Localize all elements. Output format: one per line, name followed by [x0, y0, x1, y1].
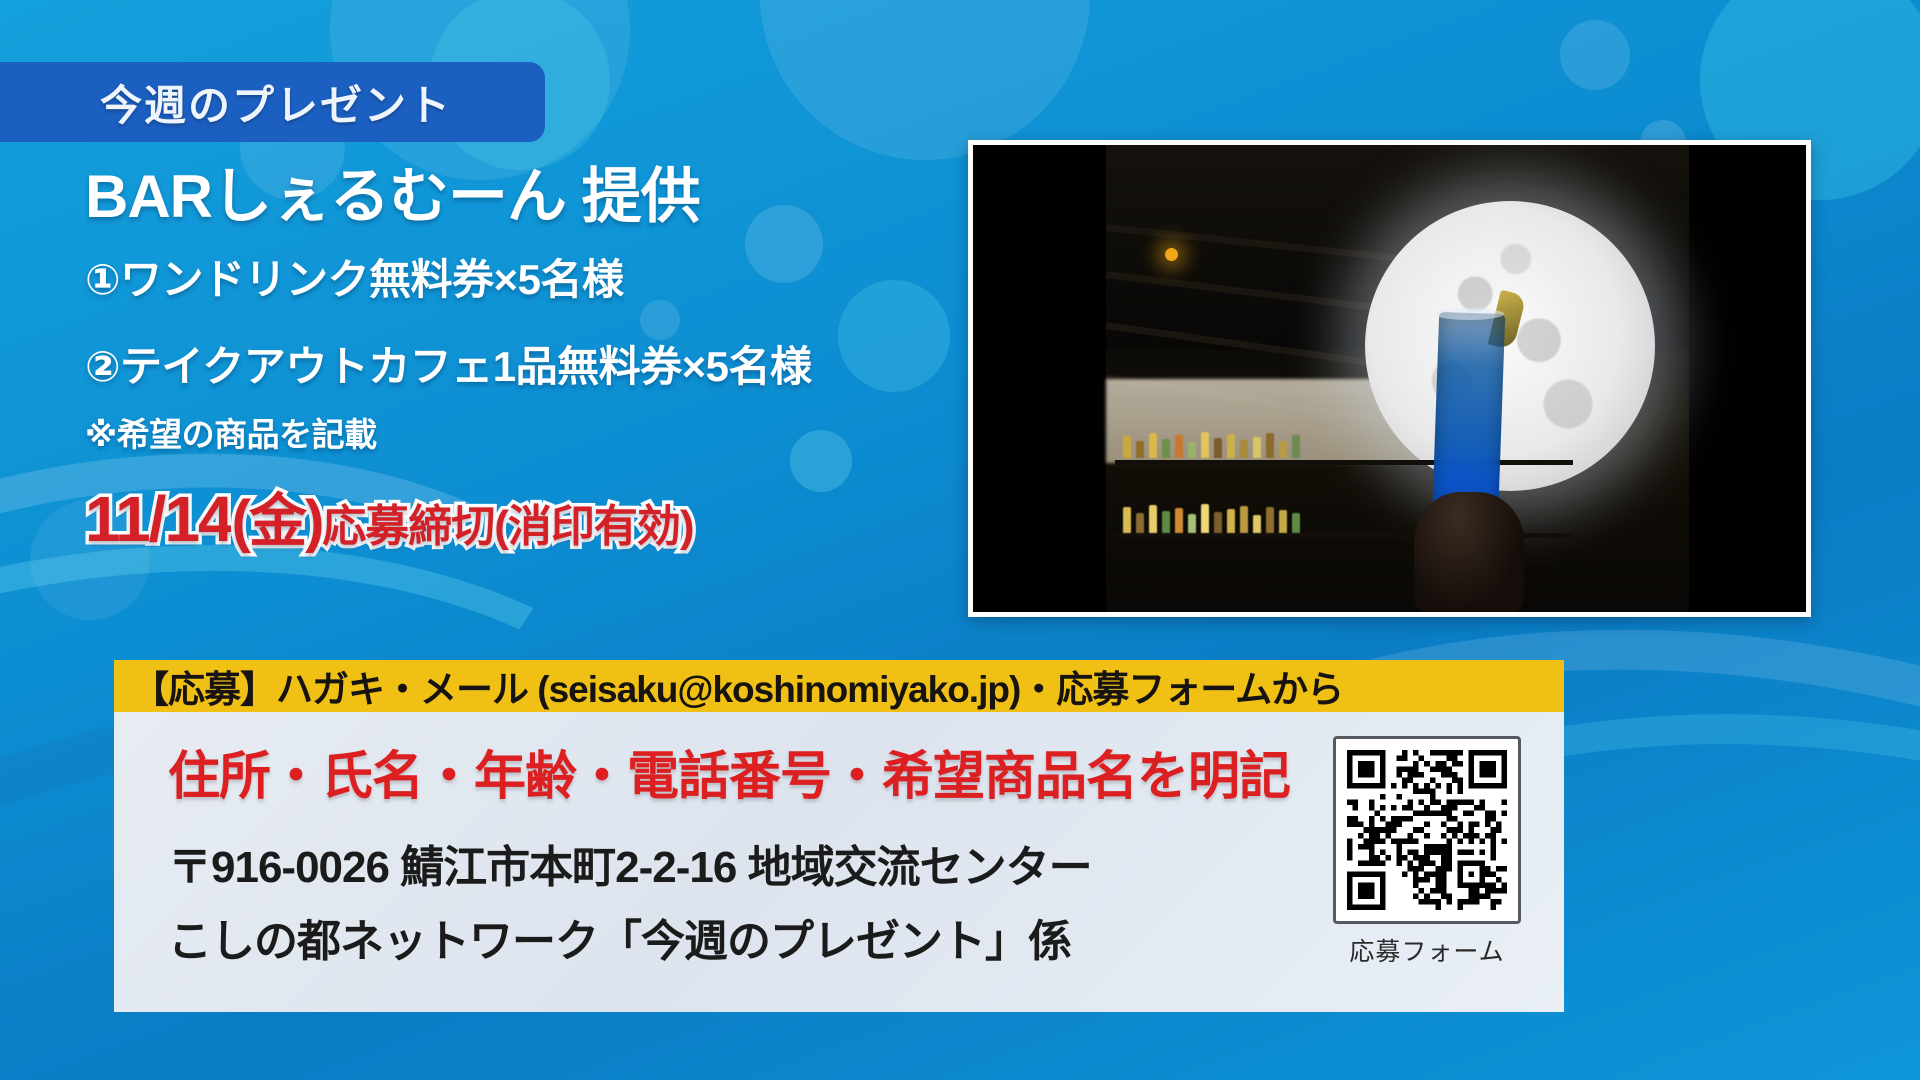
- prize-item: ①ワンドリンク無料券×5名様: [85, 246, 875, 307]
- ceiling-light-icon: [1165, 248, 1178, 261]
- qr-code-block[interactable]: 応募フォーム: [1290, 712, 1564, 1012]
- promo-poster: 今週のプレゼント BARしぇるむーん 提供 ①ワンドリンク無料券×5名様 ②テイ…: [0, 0, 1920, 1080]
- hand-holding-glass: [1414, 492, 1524, 612]
- header-badge-label: 今週のプレゼント: [100, 72, 452, 133]
- application-address-block: 住所・氏名・年齢・電話番号・希望商品名を明記 〒916-0026 鯖江市本町2-…: [114, 712, 1290, 1012]
- address-line-2: こしの都ネットワーク「今週のプレゼント」係: [168, 905, 1290, 969]
- apply-method-text: 【応募】ハガキ・メール (seisaku@koshinomiyako.jp)・応…: [132, 659, 1343, 713]
- deadline-row: 11/14 (金) 応募締切 (消印有効): [85, 474, 875, 558]
- address-line-1: 〒916-0026 鯖江市本町2-2-16 地域交流センター: [168, 831, 1290, 895]
- prize-item: ②テイクアウトカフェ1品無料券×5名様: [85, 333, 875, 394]
- qr-code-caption: 応募フォーム: [1349, 932, 1504, 968]
- prize-note: ※希望の商品を記載: [85, 408, 875, 456]
- application-info-panel: 住所・氏名・年齢・電話番号・希望商品名を明記 〒916-0026 鯖江市本町2-…: [114, 712, 1564, 1012]
- deadline-label: 応募締切: [322, 490, 494, 554]
- moon-lamp: [1365, 201, 1655, 491]
- blue-cocktail-moon-photo: [973, 145, 1806, 612]
- prize-photo-frame: [968, 140, 1811, 617]
- bubble-decoration: [760, 0, 1090, 160]
- qr-code-icon[interactable]: [1347, 750, 1507, 910]
- deadline-date: 11/14: [85, 482, 232, 556]
- provider-title: BARしぇるむーん 提供: [85, 165, 875, 228]
- required-fields-line: 住所・氏名・年齢・電話番号・希望商品名を明記: [168, 734, 1290, 809]
- apply-method-banner: 【応募】ハガキ・メール (seisaku@koshinomiyako.jp)・応…: [114, 660, 1564, 712]
- header-badge: 今週のプレゼント: [0, 62, 545, 142]
- deadline-day-of-week: (金): [232, 474, 323, 558]
- prize-details: BARしぇるむーん 提供 ①ワンドリンク無料券×5名様 ②テイクアウトカフェ1品…: [85, 165, 875, 558]
- qr-code-frame[interactable]: [1333, 736, 1521, 924]
- bubble-decoration: [1560, 20, 1630, 90]
- deadline-validity: (消印有効): [494, 490, 693, 554]
